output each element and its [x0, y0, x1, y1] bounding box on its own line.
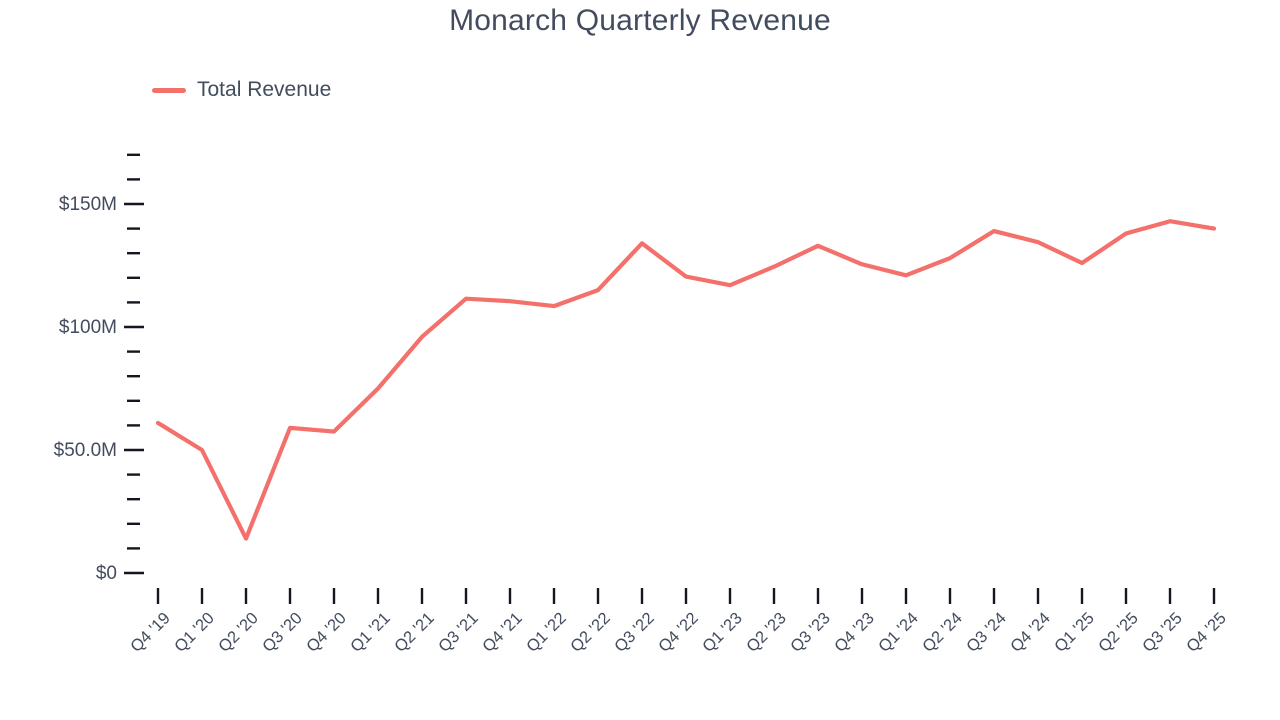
x-axis-tick-label: Q1 '22 [523, 609, 570, 656]
x-axis-tick-label: Q4 '21 [479, 609, 526, 656]
x-axis-tick-label: Q3 '22 [611, 609, 658, 656]
x-axis-tick-label: Q2 '25 [1095, 609, 1142, 656]
y-axis-tick-label: $50.0M [54, 440, 117, 461]
x-axis-tick-label: Q1 '23 [699, 609, 746, 656]
x-axis-tick-label: Q3 '25 [1139, 609, 1186, 656]
x-axis-tick-label: Q3 '24 [963, 609, 1010, 656]
x-axis-tick-label: Q3 '20 [259, 609, 306, 656]
x-axis-tick-label: Q1 '24 [875, 609, 922, 656]
series-line-total-revenue [158, 221, 1214, 538]
x-axis-tick-label: Q3 '23 [787, 609, 834, 656]
x-axis-tick-label: Q4 '20 [303, 609, 350, 656]
y-axis-tick-label: $100M [59, 317, 117, 338]
x-axis-tick-label: Q2 '21 [391, 609, 438, 656]
x-axis-tick-label: Q1 '20 [171, 609, 218, 656]
x-axis-tick-label: Q4 '25 [1183, 609, 1230, 656]
x-axis-tick-label: Q1 '21 [347, 609, 394, 656]
chart-plot-area: $0$50.0M$100M$150M Q4 '19Q1 '20Q2 '20Q3 … [0, 0, 1280, 720]
x-axis-tick-label: Q2 '23 [743, 609, 790, 656]
y-axis-tick-label: $0 [96, 563, 117, 584]
x-axis-tick-label: Q4 '22 [655, 609, 702, 656]
x-axis-tick-label: Q4 '24 [1007, 609, 1054, 656]
data-series-layer [158, 221, 1214, 538]
x-axis-tick-label: Q2 '22 [567, 609, 614, 656]
x-axis-tick-label: Q2 '20 [215, 609, 262, 656]
x-axis-tick-label: Q4 '19 [127, 609, 174, 656]
x-axis: Q4 '19Q1 '20Q2 '20Q3 '20Q4 '20Q1 '21Q2 '… [127, 588, 1230, 656]
x-axis-tick-label: Q3 '21 [435, 609, 482, 656]
x-axis-tick-label: Q1 '25 [1051, 609, 1098, 656]
x-axis-tick-label: Q2 '24 [919, 609, 966, 656]
y-axis: $0$50.0M$100M$150M [54, 155, 144, 584]
y-axis-tick-label: $150M [59, 194, 117, 215]
x-axis-tick-label: Q4 '23 [831, 609, 878, 656]
chart-container: Monarch Quarterly Revenue Total Revenue … [0, 0, 1280, 720]
